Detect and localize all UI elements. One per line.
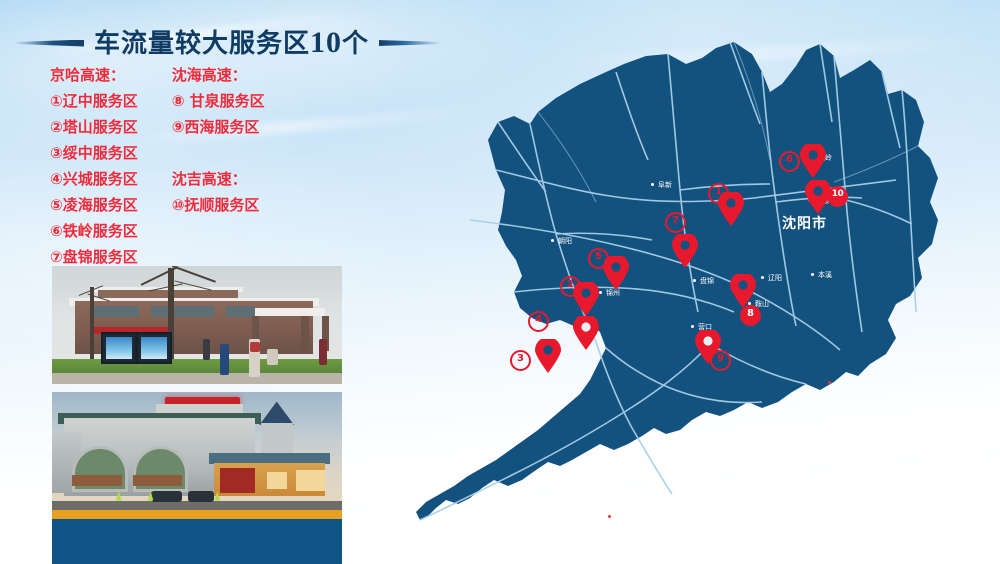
photo1-lightbox-left: [101, 332, 137, 364]
photo2-car: [188, 491, 214, 502]
city-label: 本溪: [818, 272, 832, 279]
page-title-number: 10: [310, 26, 342, 59]
map-marker-number-10[interactable]: 10: [827, 186, 848, 207]
photo2-entrance-door: [220, 468, 255, 494]
map-marker-pin-4[interactable]: [573, 316, 599, 350]
photo1-person: [203, 339, 211, 360]
page-title: 车流量较大服务区10个: [94, 28, 369, 58]
photo1-person: [220, 344, 229, 375]
city-label: 盘锦: [700, 278, 714, 285]
photo-service-area-plaza-dusk: [52, 392, 342, 510]
page-title-row: 车流量较大服务区10个: [14, 22, 434, 64]
orange-accent-bar: [52, 510, 342, 519]
map-marker-pin-6[interactable]: [800, 144, 826, 178]
page-title-label: 车流量较大服务区: [94, 29, 310, 59]
photo1-pavement: [52, 373, 342, 384]
map-marker-pin-8[interactable]: [730, 274, 756, 308]
map-marker-number-2[interactable]: 2: [560, 276, 581, 297]
photo1-column: [301, 316, 308, 351]
legend-spacer: [172, 140, 265, 166]
map-marker-number-4[interactable]: 4: [528, 311, 549, 332]
legend-item: ④兴城服务区: [50, 166, 138, 192]
city-label: 朝阳: [558, 238, 572, 245]
photo-service-area-brick-building: [52, 266, 342, 384]
legend-column-2: 沈海高速： ⑧ 甘泉服务区 ⑨西海服务区 沈吉高速： ⑩抚顺服务区: [172, 62, 265, 270]
province-region: [416, 42, 938, 520]
photo1-lightbox-right: [136, 332, 172, 364]
decorative-rule-left-icon: [14, 40, 84, 47]
map-marker-number-7[interactable]: 7: [665, 212, 686, 233]
legend-item: ③绥中服务区: [50, 140, 138, 166]
photo1-lightbox-art: [106, 337, 132, 359]
city-label: 丹东: [835, 380, 849, 387]
map-marker-number-8[interactable]: 8: [740, 305, 761, 326]
map-marker-pin-7[interactable]: [672, 234, 698, 268]
photo1-person-jacket: [250, 342, 259, 353]
photo2-interior-glow: [296, 470, 325, 491]
page-title-unit: 个: [342, 29, 369, 59]
photo1-lightbox-art: [141, 337, 167, 359]
photo1-person: [319, 339, 327, 365]
legend-item: ⑩抚顺服务区: [172, 192, 265, 218]
city-label: 大连: [615, 514, 629, 521]
legend-item: ⑧ 甘泉服务区: [172, 88, 265, 114]
legend-column-1: 京哈高速： ①辽中服务区 ②塔山服务区 ③绥中服务区 ④兴城服务区 ⑤凌海服务区…: [50, 62, 138, 270]
city-label: 锦州: [606, 290, 620, 297]
city-label-shenyang: 沈阳市: [782, 213, 827, 233]
photo2-arch-base: [72, 475, 121, 487]
service-area-legend: 京哈高速： ①辽中服务区 ②塔山服务区 ③绥中服务区 ④兴城服务区 ⑤凌海服务区…: [50, 62, 265, 270]
photo2-car: [151, 491, 183, 502]
legend-item: ⑥铁岭服务区: [50, 218, 138, 244]
map-shape: [410, 20, 990, 560]
map-marker-pin-3[interactable]: [535, 339, 561, 373]
photo1-canopy: [255, 308, 325, 315]
photo1-window: [151, 306, 215, 317]
map-marker-number-3[interactable]: 3: [510, 350, 531, 371]
map-marker-number-1[interactable]: 1: [708, 183, 729, 204]
liaoning-province-map: 沈阳市 铁岭 抚顺 阜新 朝阳 锦州 盘锦 辽阳 本溪 鞍山 营口 丹东 大连: [410, 20, 990, 560]
photo2-arch-base: [133, 475, 182, 487]
city-label: 阜新: [658, 182, 672, 189]
legend-group-heading: 沈海高速：: [172, 62, 265, 88]
infographic-canvas: 车流量较大服务区10个 京哈高速： ①辽中服务区 ②塔山服务区 ③绥中服务区 ④…: [0, 0, 1000, 564]
legend-group-heading: 沈吉高速：: [172, 166, 265, 192]
map-marker-number-9[interactable]: 9: [710, 350, 731, 371]
map-marker-number-6[interactable]: 6: [779, 151, 800, 172]
photo1-window: [93, 306, 139, 317]
city-label: 辽阳: [768, 275, 782, 282]
legend-item: ②塔山服务区: [50, 114, 138, 140]
legend-item: ⑤凌海服务区: [50, 192, 138, 218]
photo1-bin: [267, 349, 279, 366]
blue-footer-block: [52, 519, 342, 564]
photo2-interior-glow: [267, 472, 287, 489]
legend-item: ⑨西海服务区: [172, 114, 265, 140]
photo1-bare-tree-trunk: [90, 287, 94, 360]
photo1-window: [226, 306, 255, 317]
map-marker-number-5[interactable]: 5: [588, 248, 609, 269]
photo2-ground: [52, 501, 342, 510]
legend-group-heading: 京哈高速：: [50, 62, 138, 88]
legend-item: ①辽中服务区: [50, 88, 138, 114]
